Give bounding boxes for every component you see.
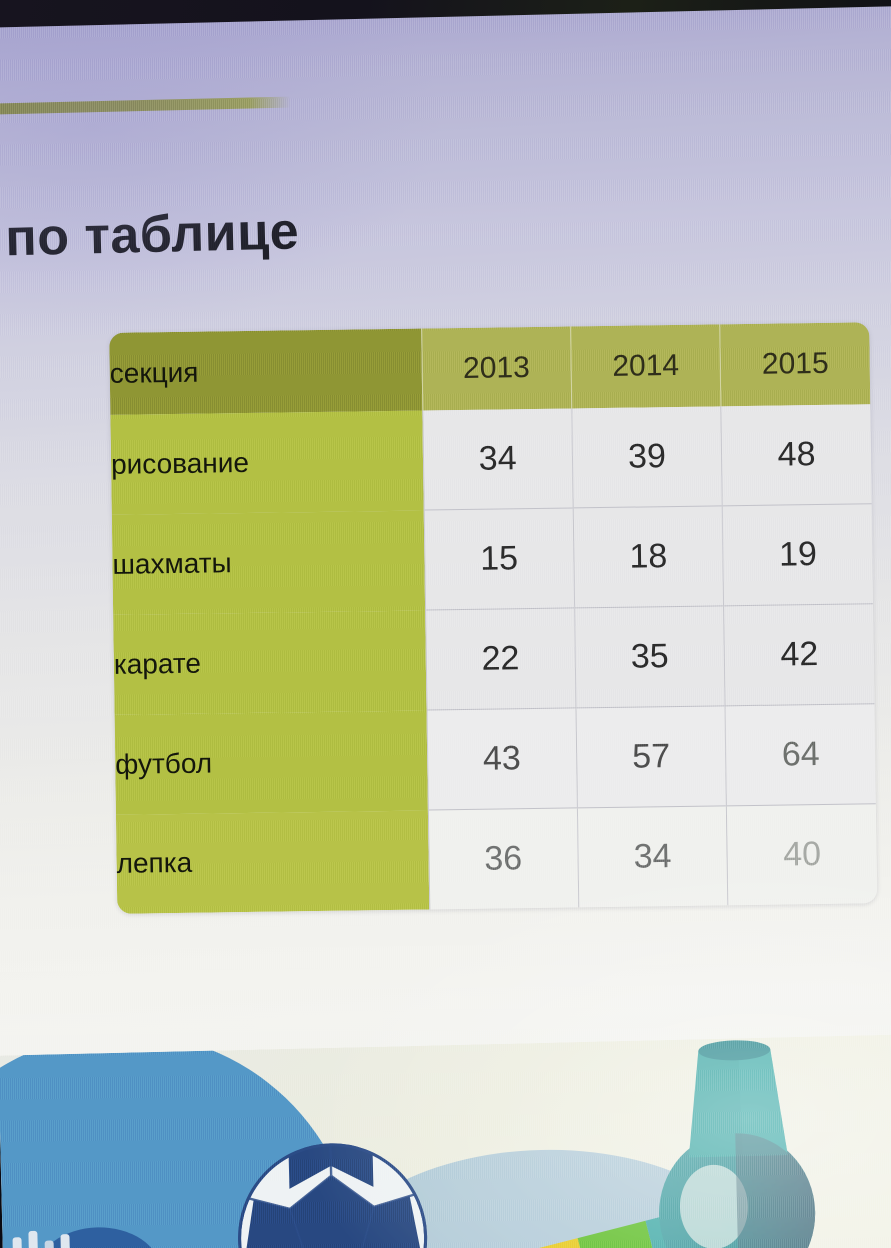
- table-row: карате 22 35 42: [113, 604, 874, 715]
- slide-decoration: [0, 1033, 891, 1248]
- table-header: секция 2013 2014 2015: [109, 322, 870, 415]
- row-label: карате: [113, 610, 426, 714]
- cell-value: 34: [577, 806, 728, 908]
- table-row: лепка 36 34 40: [116, 804, 877, 914]
- cell-value: 57: [576, 706, 727, 808]
- cell-value: 34: [422, 408, 573, 510]
- cell-value: 40: [727, 804, 878, 906]
- column-header-2014: 2014: [571, 324, 721, 408]
- column-header-section: секция: [109, 329, 422, 415]
- slide-surface: с по таблице секция 2013 2014 2015: [0, 5, 891, 1248]
- row-label: рисование: [110, 411, 423, 515]
- cell-value: 18: [573, 506, 724, 608]
- column-header-2013: 2013: [421, 326, 571, 410]
- table-body: рисование 34 39 48 шахматы 15 18 19 кара…: [110, 404, 877, 914]
- table-row: футбол 43 57 64: [115, 704, 876, 815]
- table-container: секция 2013 2014 2015 рисование 34 39 48…: [109, 322, 877, 914]
- cell-value: 19: [722, 504, 873, 606]
- sections-table: секция 2013 2014 2015 рисование 34 39 48…: [109, 322, 877, 914]
- table-header-row: секция 2013 2014 2015: [109, 322, 870, 415]
- cell-value: 39: [572, 406, 723, 508]
- table-row: рисование 34 39 48: [110, 404, 871, 514]
- column-header-2015: 2015: [720, 322, 870, 406]
- cell-value: 15: [424, 508, 575, 610]
- decoration-illustration: [0, 1033, 891, 1248]
- cell-value: 35: [574, 606, 725, 708]
- cell-value: 43: [427, 708, 578, 810]
- cell-value: 42: [724, 604, 875, 706]
- row-label: лепка: [116, 810, 429, 914]
- row-label: шахматы: [112, 510, 425, 614]
- accent-rule: [0, 97, 291, 116]
- cell-value: 48: [721, 404, 872, 506]
- photographed-screen: с по таблице секция 2013 2014 2015: [0, 0, 891, 1248]
- cell-value: 22: [425, 608, 576, 710]
- page-title: с по таблице: [0, 201, 300, 269]
- row-label: футбол: [115, 710, 428, 814]
- cell-value: 64: [725, 704, 876, 806]
- cell-value: 36: [428, 808, 579, 910]
- table-row: шахматы 15 18 19: [112, 504, 873, 615]
